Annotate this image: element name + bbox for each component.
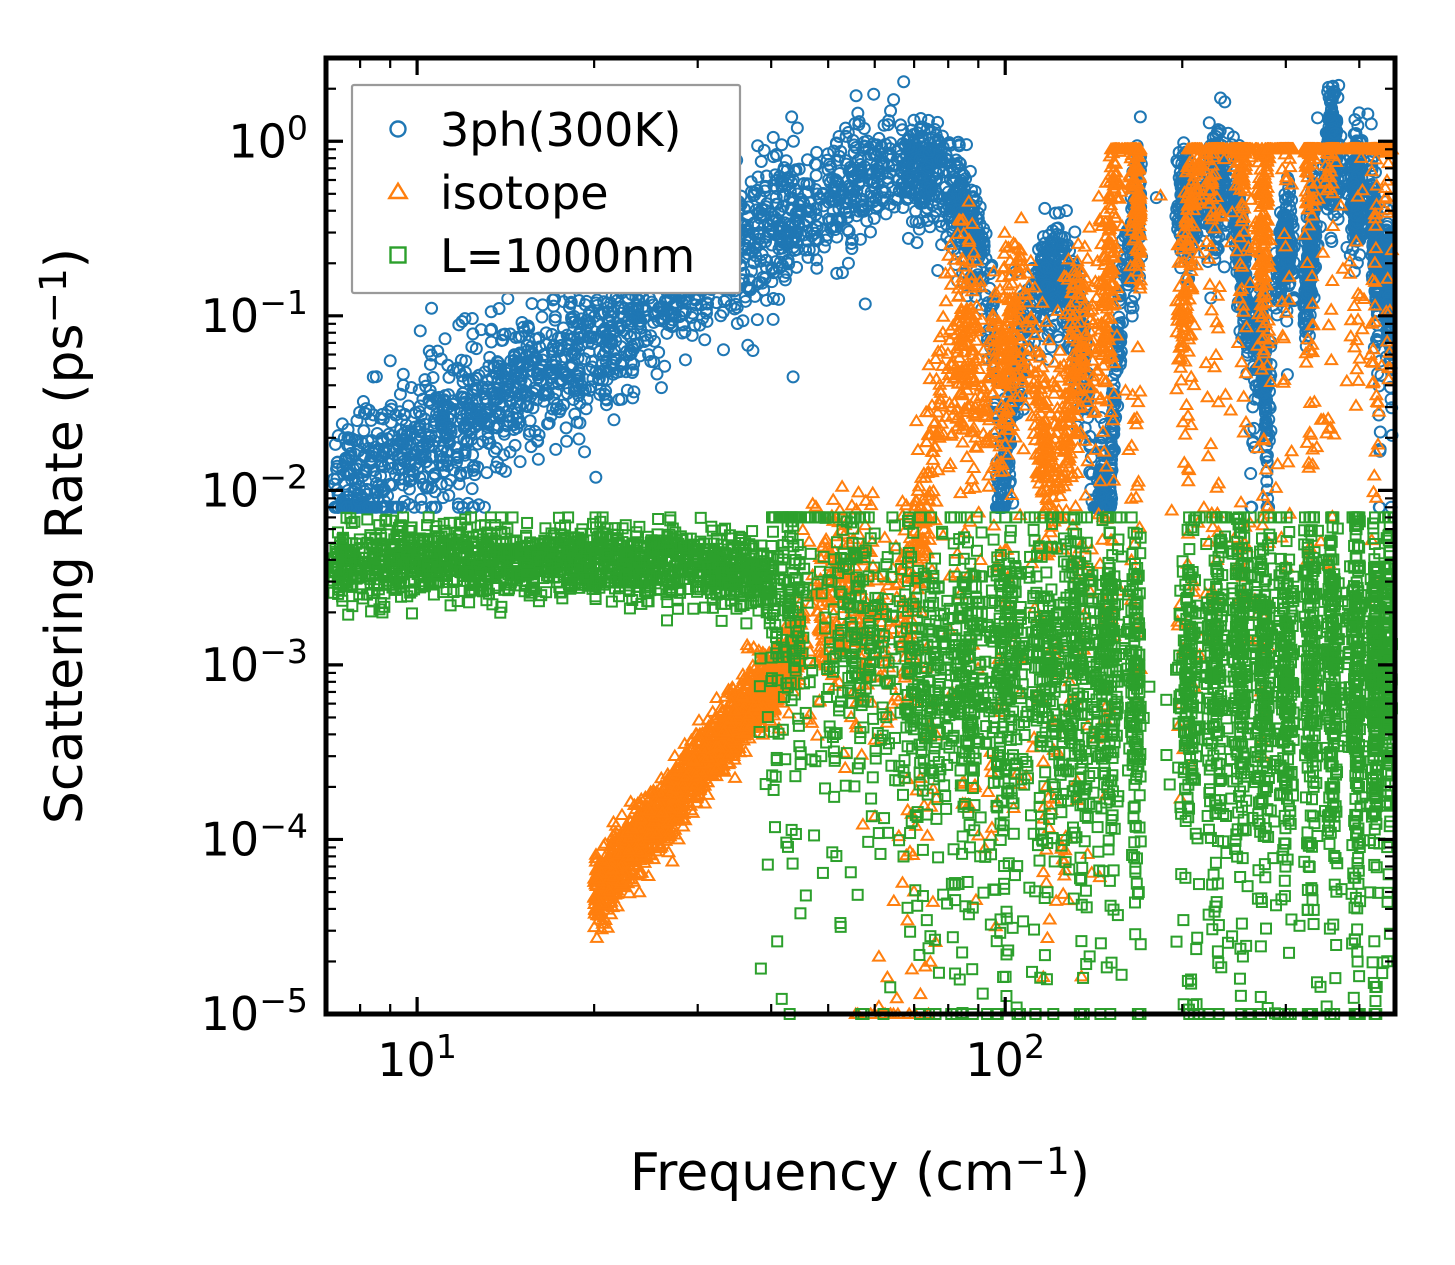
legend-label: isotope <box>440 166 609 220</box>
y-axis-label: Scattering Rate (ps−1) <box>31 248 95 824</box>
scatter-plot: 10110210010−110−210−310−410−5 Frequency … <box>0 0 1455 1265</box>
legend-label: 3ph(300K) <box>440 103 681 157</box>
figure-container: 10110210010−110−210−310−410−5 Frequency … <box>0 0 1455 1265</box>
legend-label: L=1000nm <box>440 229 695 283</box>
legend[interactable]: 3ph(300K)isotopeL=1000nm <box>352 85 740 293</box>
